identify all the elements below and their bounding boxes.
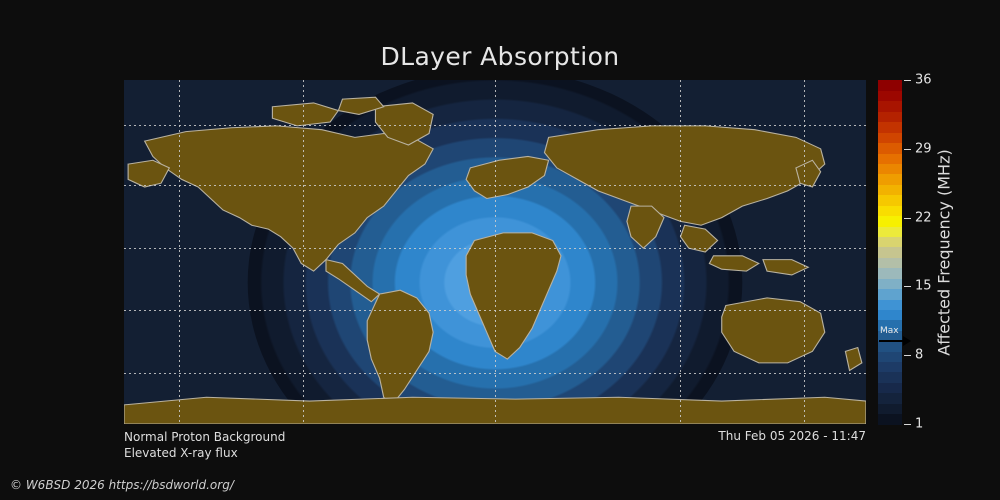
colorbar-tick — [904, 286, 911, 287]
colorbar-band — [878, 299, 902, 310]
colorbar-band — [878, 372, 902, 383]
colorbar-tick-label: 36 — [915, 73, 932, 88]
colorbar-band — [878, 288, 902, 299]
colorbar-tick-label: 29 — [915, 141, 932, 156]
colorbar-band — [878, 268, 902, 279]
colorbar-band — [878, 236, 902, 247]
colorbar-band — [878, 351, 902, 362]
page-title: DLayer Absorption — [0, 42, 1000, 71]
colorbar-band — [878, 382, 902, 393]
colorbar-band — [878, 393, 902, 404]
colorbar-gradient — [878, 80, 902, 424]
colorbar-band — [878, 247, 902, 258]
colorbar-max-marker: Max — [879, 326, 913, 346]
colorbar-tick — [904, 355, 911, 356]
colorbar[interactable]: Max 1815222936 — [878, 80, 902, 424]
colorbar-band — [878, 361, 902, 372]
colorbar-band — [878, 163, 902, 174]
colorbar-band — [878, 90, 902, 101]
world-map[interactable] — [124, 80, 866, 424]
colorbar-band — [878, 257, 902, 268]
colorbar-band — [878, 226, 902, 237]
map-canvas — [124, 80, 866, 424]
colorbar-max-arrow — [879, 336, 913, 346]
colorbar-band — [878, 403, 902, 414]
colorbar-band — [878, 278, 902, 289]
colorbar-band — [878, 111, 902, 122]
colorbar-band — [878, 205, 902, 216]
colorbar-tick — [904, 218, 911, 219]
colorbar-tick-label: 22 — [915, 210, 932, 225]
colorbar-band — [878, 414, 902, 425]
colorbar-band — [878, 101, 902, 112]
colorbar-band — [878, 80, 902, 91]
status-line-2: Elevated X-ray flux — [124, 445, 285, 461]
colorbar-band — [878, 216, 902, 227]
timestamp: Thu Feb 05 2026 - 11:47 — [718, 429, 866, 443]
colorbar-tick — [904, 80, 911, 81]
colorbar-band — [878, 174, 902, 185]
colorbar-max-label: Max — [879, 326, 913, 336]
colorbar-band — [878, 122, 902, 133]
status-text: Normal Proton Background Elevated X-ray … — [124, 429, 285, 461]
colorbar-axis-title: Affected Frequency (MHz) — [932, 80, 956, 424]
colorbar-band — [878, 309, 902, 320]
colorbar-band — [878, 184, 902, 195]
status-line-1: Normal Proton Background — [124, 429, 285, 445]
colorbar-band — [878, 132, 902, 143]
colorbar-band — [878, 153, 902, 164]
colorbar-tick-label: 15 — [915, 279, 932, 294]
colorbar-tick — [904, 149, 911, 150]
colorbar-band — [878, 143, 902, 154]
colorbar-tick-label: 8 — [915, 348, 923, 363]
colorbar-tick-label: 1 — [915, 417, 923, 432]
dlayer-absorption-chart: DLayer Absorption — [0, 0, 1000, 500]
copyright-footer: © W6BSD 2026 https://bsdworld.org/ — [10, 478, 234, 492]
colorbar-tick — [904, 424, 911, 425]
colorbar-band — [878, 195, 902, 206]
